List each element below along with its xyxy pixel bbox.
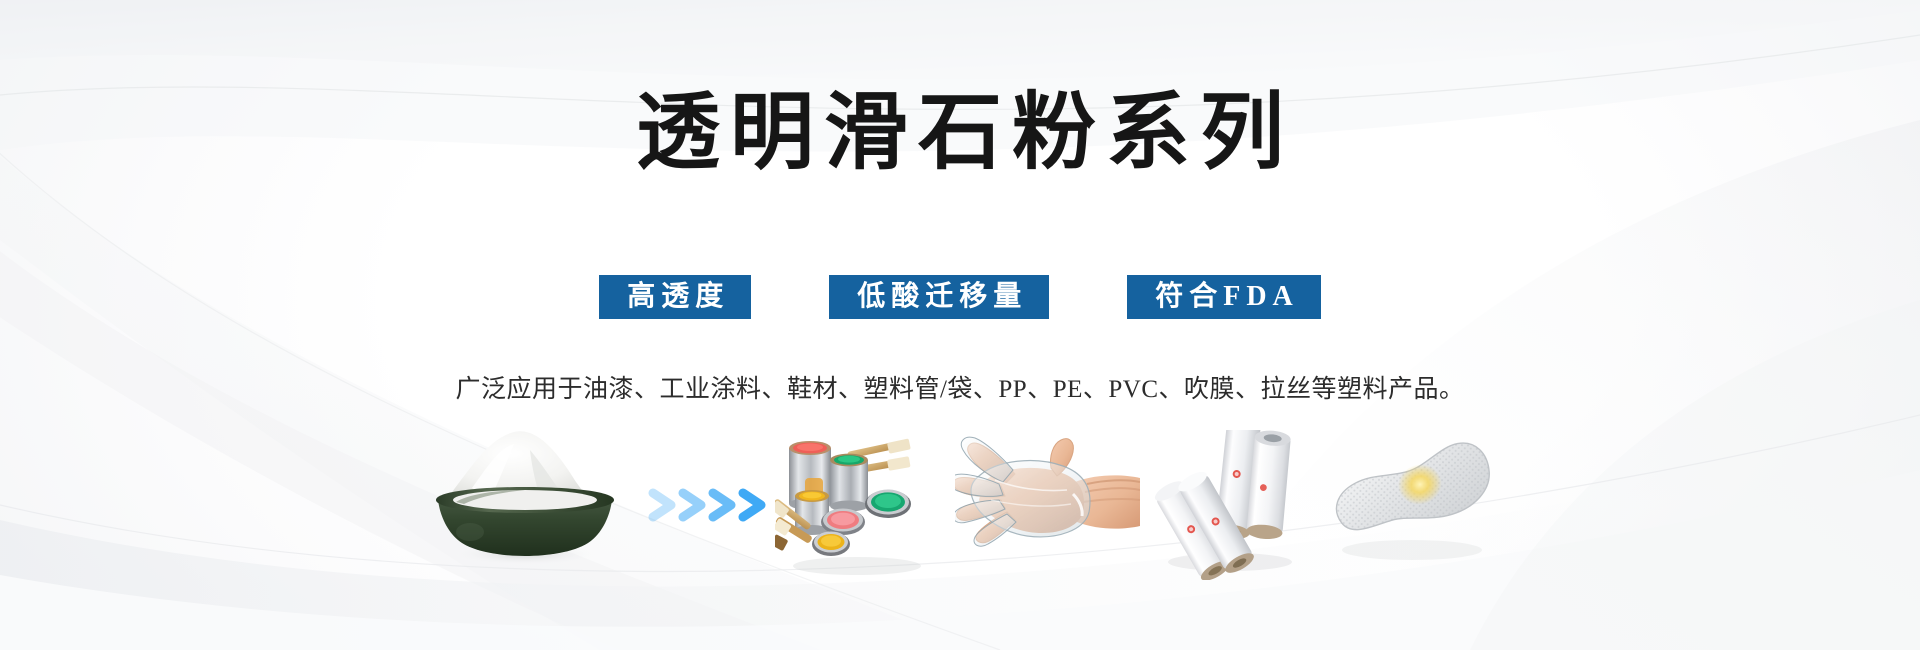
plastic-glove-hand-image: 戴透明塑料手套的手 <box>955 430 1140 580</box>
badge-high-transparency: 高透度 <box>599 275 751 319</box>
badge-low-acid-migration: 低酸迁移量 <box>829 275 1049 319</box>
paint-can-green <box>830 454 868 512</box>
badge-fda-compliant: 符合FDA <box>1127 275 1321 319</box>
banner-description: 广泛应用于油漆、工业涂料、鞋材、塑料管/袋、PP、PE、PVC、吹膜、拉丝等塑料… <box>0 373 1920 407</box>
product-application-strip: 白色滑石粉盛于深绿色碗中 <box>0 430 1920 580</box>
chevron-3-icon <box>713 493 731 517</box>
banner-title: 透明滑石粉系列 <box>0 84 1920 184</box>
chevron-2-icon <box>683 493 701 517</box>
chevron-1-icon <box>653 493 671 517</box>
paint-cans-image: 红、绿、黄、粉色油漆罐与刷子 <box>775 430 940 580</box>
feature-badge-group: 高透度 低酸迁移量 符合FDA <box>0 275 1920 319</box>
paint-dish-green <box>865 490 911 519</box>
plastic-film-rolls-image: 白色塑料薄膜卷 <box>1150 430 1310 580</box>
chevron-4-icon <box>743 493 761 517</box>
product-banner: 透明滑石粉系列 高透度 低酸迁移量 符合FDA 广泛应用于油漆、工业涂料、鞋材、… <box>0 0 1920 650</box>
shoe-sole-image: 浅灰色鞋底 <box>1320 430 1500 580</box>
paint-dish-yellow <box>812 532 850 557</box>
talc-powder-bowl-image: 白色滑石粉盛于深绿色碗中 <box>410 430 640 580</box>
process-arrows: 四个蓝色箭头 <box>645 430 785 580</box>
